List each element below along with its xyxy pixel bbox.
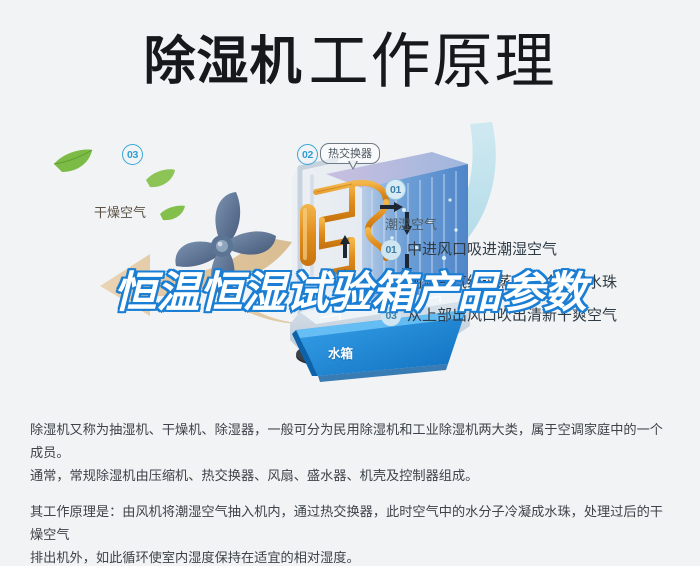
- step-item: 01 中进风口吸进潮湿空气: [381, 240, 691, 262]
- page-title-part1: 除湿机: [143, 33, 302, 91]
- badge-02-heat-exchanger: 02: [297, 144, 318, 165]
- page-title-part2: 工作原理: [309, 28, 557, 95]
- steps-list: 01 中进风口吸进潮湿空气 02 潮湿空气经过蒸发器冷凝成水珠 03 从上部出风…: [381, 240, 691, 339]
- badge-01-humid-air: 01: [385, 179, 406, 200]
- compressor-icon: [300, 204, 316, 266]
- copy-p2-l1: 其工作原理是：由风机将潮湿空气抽入机内，通过热交换器，此时空气中的水分子冷凝成水…: [30, 500, 675, 546]
- paragraph-gap: [30, 487, 675, 500]
- page-root: 除湿机工作原理: [0, 0, 700, 566]
- badge-03-dry-air: 03: [122, 144, 143, 165]
- copy-p1-l1: 除湿机又称为抽湿机、干燥机、除湿器，一般可分为民用除湿机和工业除湿机两大类，属于…: [30, 418, 675, 464]
- label-humid-air: 潮湿空气: [385, 214, 437, 233]
- body-copy: 除湿机又称为抽湿机、干燥机、除湿器，一般可分为民用除湿机和工业除湿机两大类，属于…: [30, 418, 675, 566]
- step-badge: 01: [381, 240, 401, 260]
- copy-p2-l2: 排出机外，如此循环使室内湿度保持在适宜的相对湿度。: [30, 546, 675, 566]
- step-badge: 03: [381, 306, 401, 326]
- label-water-tank: 水箱: [328, 343, 353, 362]
- step-item: 03 从上部出风口吹出清新干爽空气: [381, 306, 691, 328]
- page-title: 除湿机工作原理: [0, 26, 700, 98]
- step-text: 从上部出风口吹出清新干爽空气: [407, 306, 617, 326]
- step-item: 02 潮湿空气经过蒸发器冷凝成水珠: [381, 273, 691, 295]
- callout-tail-icon: [348, 161, 358, 170]
- copy-p1-l2: 通常，常规除湿机由压缩机、热交换器、风扇、盛水器、机壳及控制器组成。: [30, 464, 675, 487]
- step-badge: 02: [381, 273, 401, 293]
- step-text: 潮湿空气经过蒸发器冷凝成水珠: [407, 273, 617, 293]
- step-text: 中进风口吸进潮湿空气: [407, 240, 557, 260]
- label-dry-air: 干燥空气: [94, 202, 146, 221]
